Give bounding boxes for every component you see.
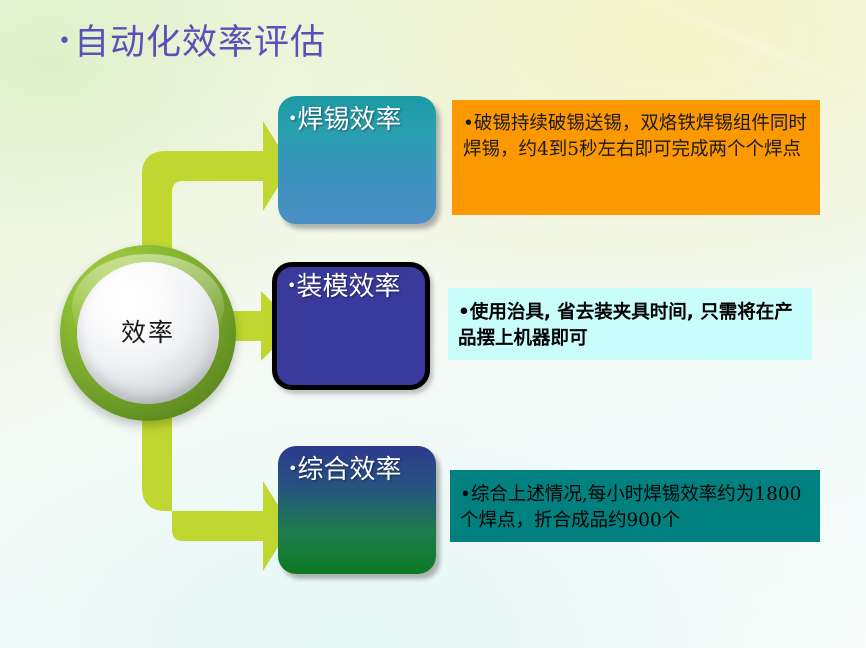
detail-bullet-icon: • bbox=[460, 484, 471, 505]
hub-core: 效率 bbox=[77, 262, 219, 404]
detail-bullet-icon: • bbox=[458, 302, 470, 323]
category-label-soldering: •焊锡效率 bbox=[288, 106, 428, 135]
detail-box-overall: •综合上述情况,每小时焊锡效率约为1800个焊点，折合成品约900个 bbox=[450, 470, 820, 542]
title-bullet-icon: • bbox=[58, 29, 72, 54]
category-box-fixturing[interactable]: •装模效率 bbox=[272, 262, 430, 390]
page-title: •自动化效率评估 bbox=[58, 14, 326, 65]
detail-text-overall-body: 综合上述情况,每小时焊锡效率约为1800个焊点，折合成品约900个 bbox=[460, 484, 801, 531]
detail-bullet-icon: • bbox=[463, 113, 474, 134]
category-label-text: 装模效率 bbox=[296, 272, 400, 302]
hub-label: 效率 bbox=[121, 313, 175, 349]
detail-text-soldering-body: 破锡持续破锡送锡，双烙铁焊锡组件同时焊锡，约4到5秒左右即可完成两个个焊点 bbox=[463, 113, 807, 160]
category-box-soldering[interactable]: •焊锡效率 bbox=[278, 96, 436, 224]
detail-text-overall: •综合上述情况,每小时焊锡效率约为1800个焊点，折合成品约900个 bbox=[460, 482, 812, 535]
category-box-overall[interactable]: •综合效率 bbox=[278, 446, 436, 574]
category-label-overall: •综合效率 bbox=[288, 456, 428, 485]
page-title-text: 自动化效率评估 bbox=[74, 23, 326, 63]
slide-canvas: •自动化效率评估 效率 •焊锡效率 •装模效率 •综合效率 •破锡持续破锡 bbox=[0, 0, 866, 648]
category-label-fixturing: •装模效率 bbox=[287, 273, 417, 302]
detail-box-fixturing: •使用治具, 省去装夹具时间, 只需将在产品摆上机器即可 bbox=[448, 288, 812, 360]
detail-box-soldering: •破锡持续破锡送锡，双烙铁焊锡组件同时焊锡，约4到5秒左右即可完成两个个焊点 bbox=[452, 100, 820, 215]
background-streak bbox=[610, 0, 866, 101]
detail-text-soldering: •破锡持续破锡送锡，双烙铁焊锡组件同时焊锡，约4到5秒左右即可完成两个个焊点 bbox=[463, 111, 810, 164]
category-label-text: 综合效率 bbox=[297, 455, 401, 485]
hub-node[interactable]: 效率 bbox=[60, 245, 236, 421]
detail-text-fixturing: •使用治具, 省去装夹具时间, 只需将在产品摆上机器即可 bbox=[458, 300, 804, 353]
category-label-text: 焊锡效率 bbox=[297, 105, 401, 135]
detail-text-fixturing-body: 使用治具, 省去装夹具时间, 只需将在产品摆上机器即可 bbox=[458, 302, 793, 349]
